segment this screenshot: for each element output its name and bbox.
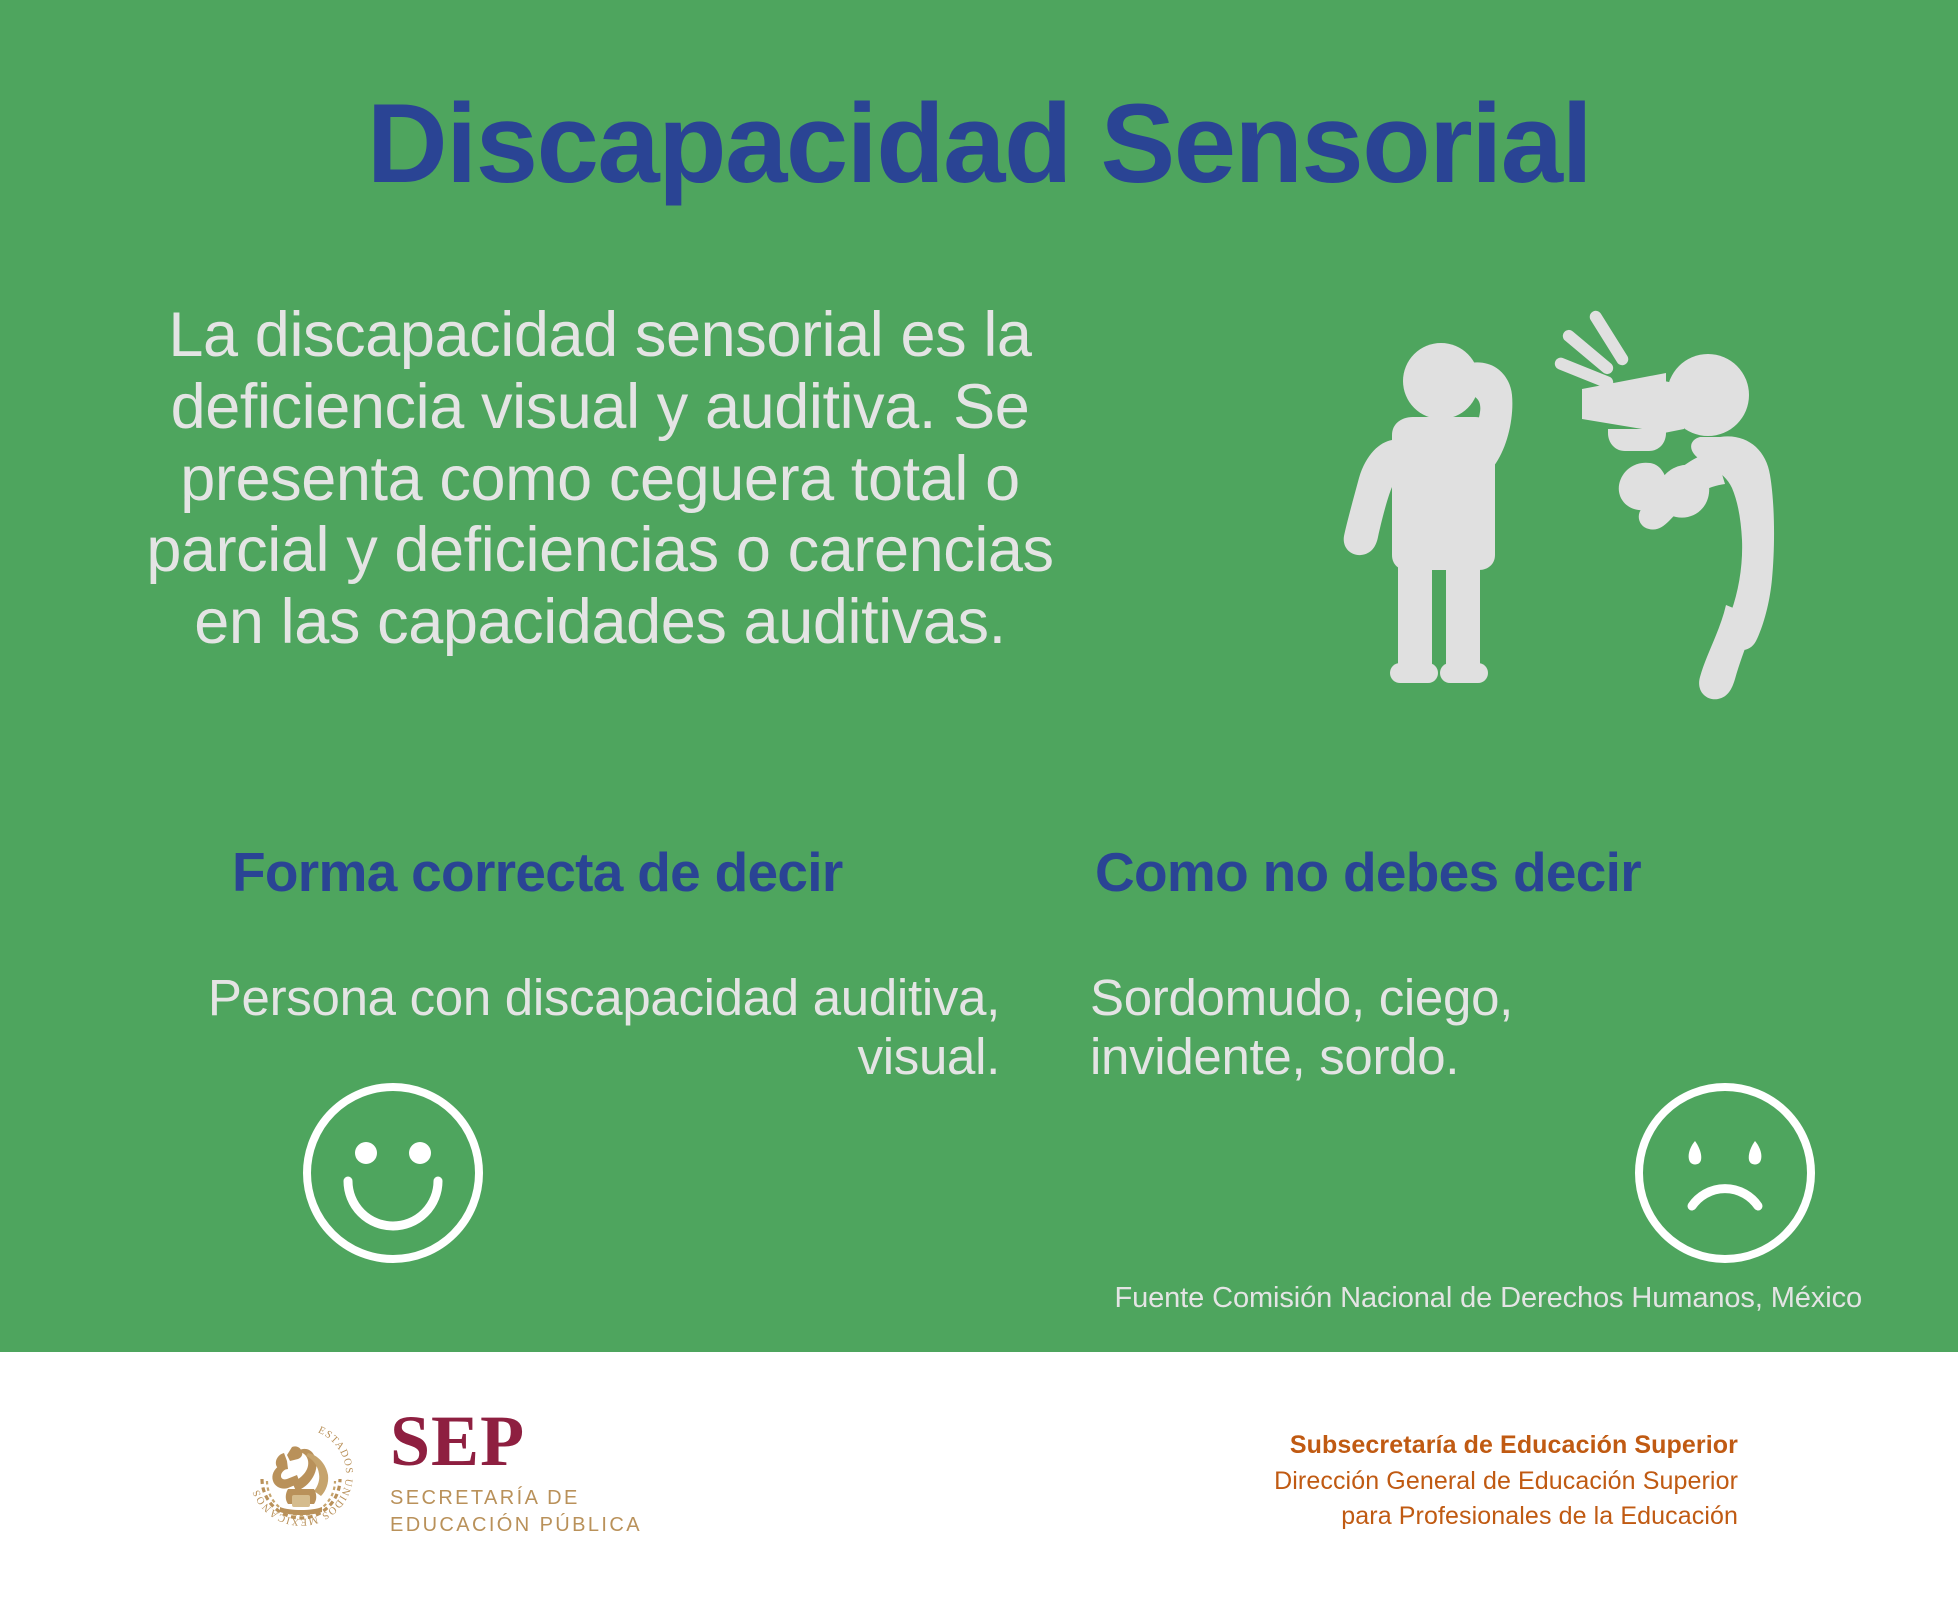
text-incorrect-form: Sordomudo, ciego, invidente, sordo. [1090, 968, 1710, 1086]
page-title: Discapacidad Sensorial [0, 88, 1958, 200]
sad-face-icon [1630, 1078, 1820, 1268]
mexican-coat-of-arms-icon: ESTADOS UNIDOS MEXICANOS [240, 1413, 362, 1535]
sep-acronym: SEP [390, 1408, 642, 1476]
sensory-disability-pictogram [1320, 285, 1920, 705]
happy-face-icon [298, 1078, 488, 1268]
sep-logo: ESTADOS UNIDOS MEXICANOS [240, 1408, 642, 1540]
sep-subtitle-line1: SECRETARÍA DE [390, 1485, 642, 1513]
department-block: Subsecretaría de Educación Superior Dire… [1274, 1428, 1738, 1535]
sep-subtitle-line2: EDUCACIÓN PÚBLICA [390, 1512, 642, 1540]
heading-correct-form: Forma correcta de decir [232, 845, 843, 900]
sep-subtitle: SECRETARÍA DE EDUCACIÓN PÚBLICA [390, 1485, 642, 1540]
infographic-poster: Discapacidad Sensorial La discapacidad s… [0, 0, 1958, 1598]
department-line-1: Subsecretaría de Educación Superior [1274, 1428, 1738, 1464]
intro-paragraph: La discapacidad sensorial es la deficien… [130, 300, 1070, 659]
text-correct-form: Persona con discapacidad auditiva, visua… [150, 968, 1000, 1086]
source-note: Fuente Comisión Nacional de Derechos Hum… [1114, 1282, 1862, 1315]
department-line-2: Dirección General de Educación Superior [1274, 1464, 1738, 1500]
sep-wordmark: SEP SECRETARÍA DE EDUCACIÓN PÚBLICA [390, 1408, 642, 1540]
department-line-3: para Profesionales de la Educación [1274, 1499, 1738, 1535]
heading-incorrect-form: Como no debes decir [1095, 845, 1641, 900]
